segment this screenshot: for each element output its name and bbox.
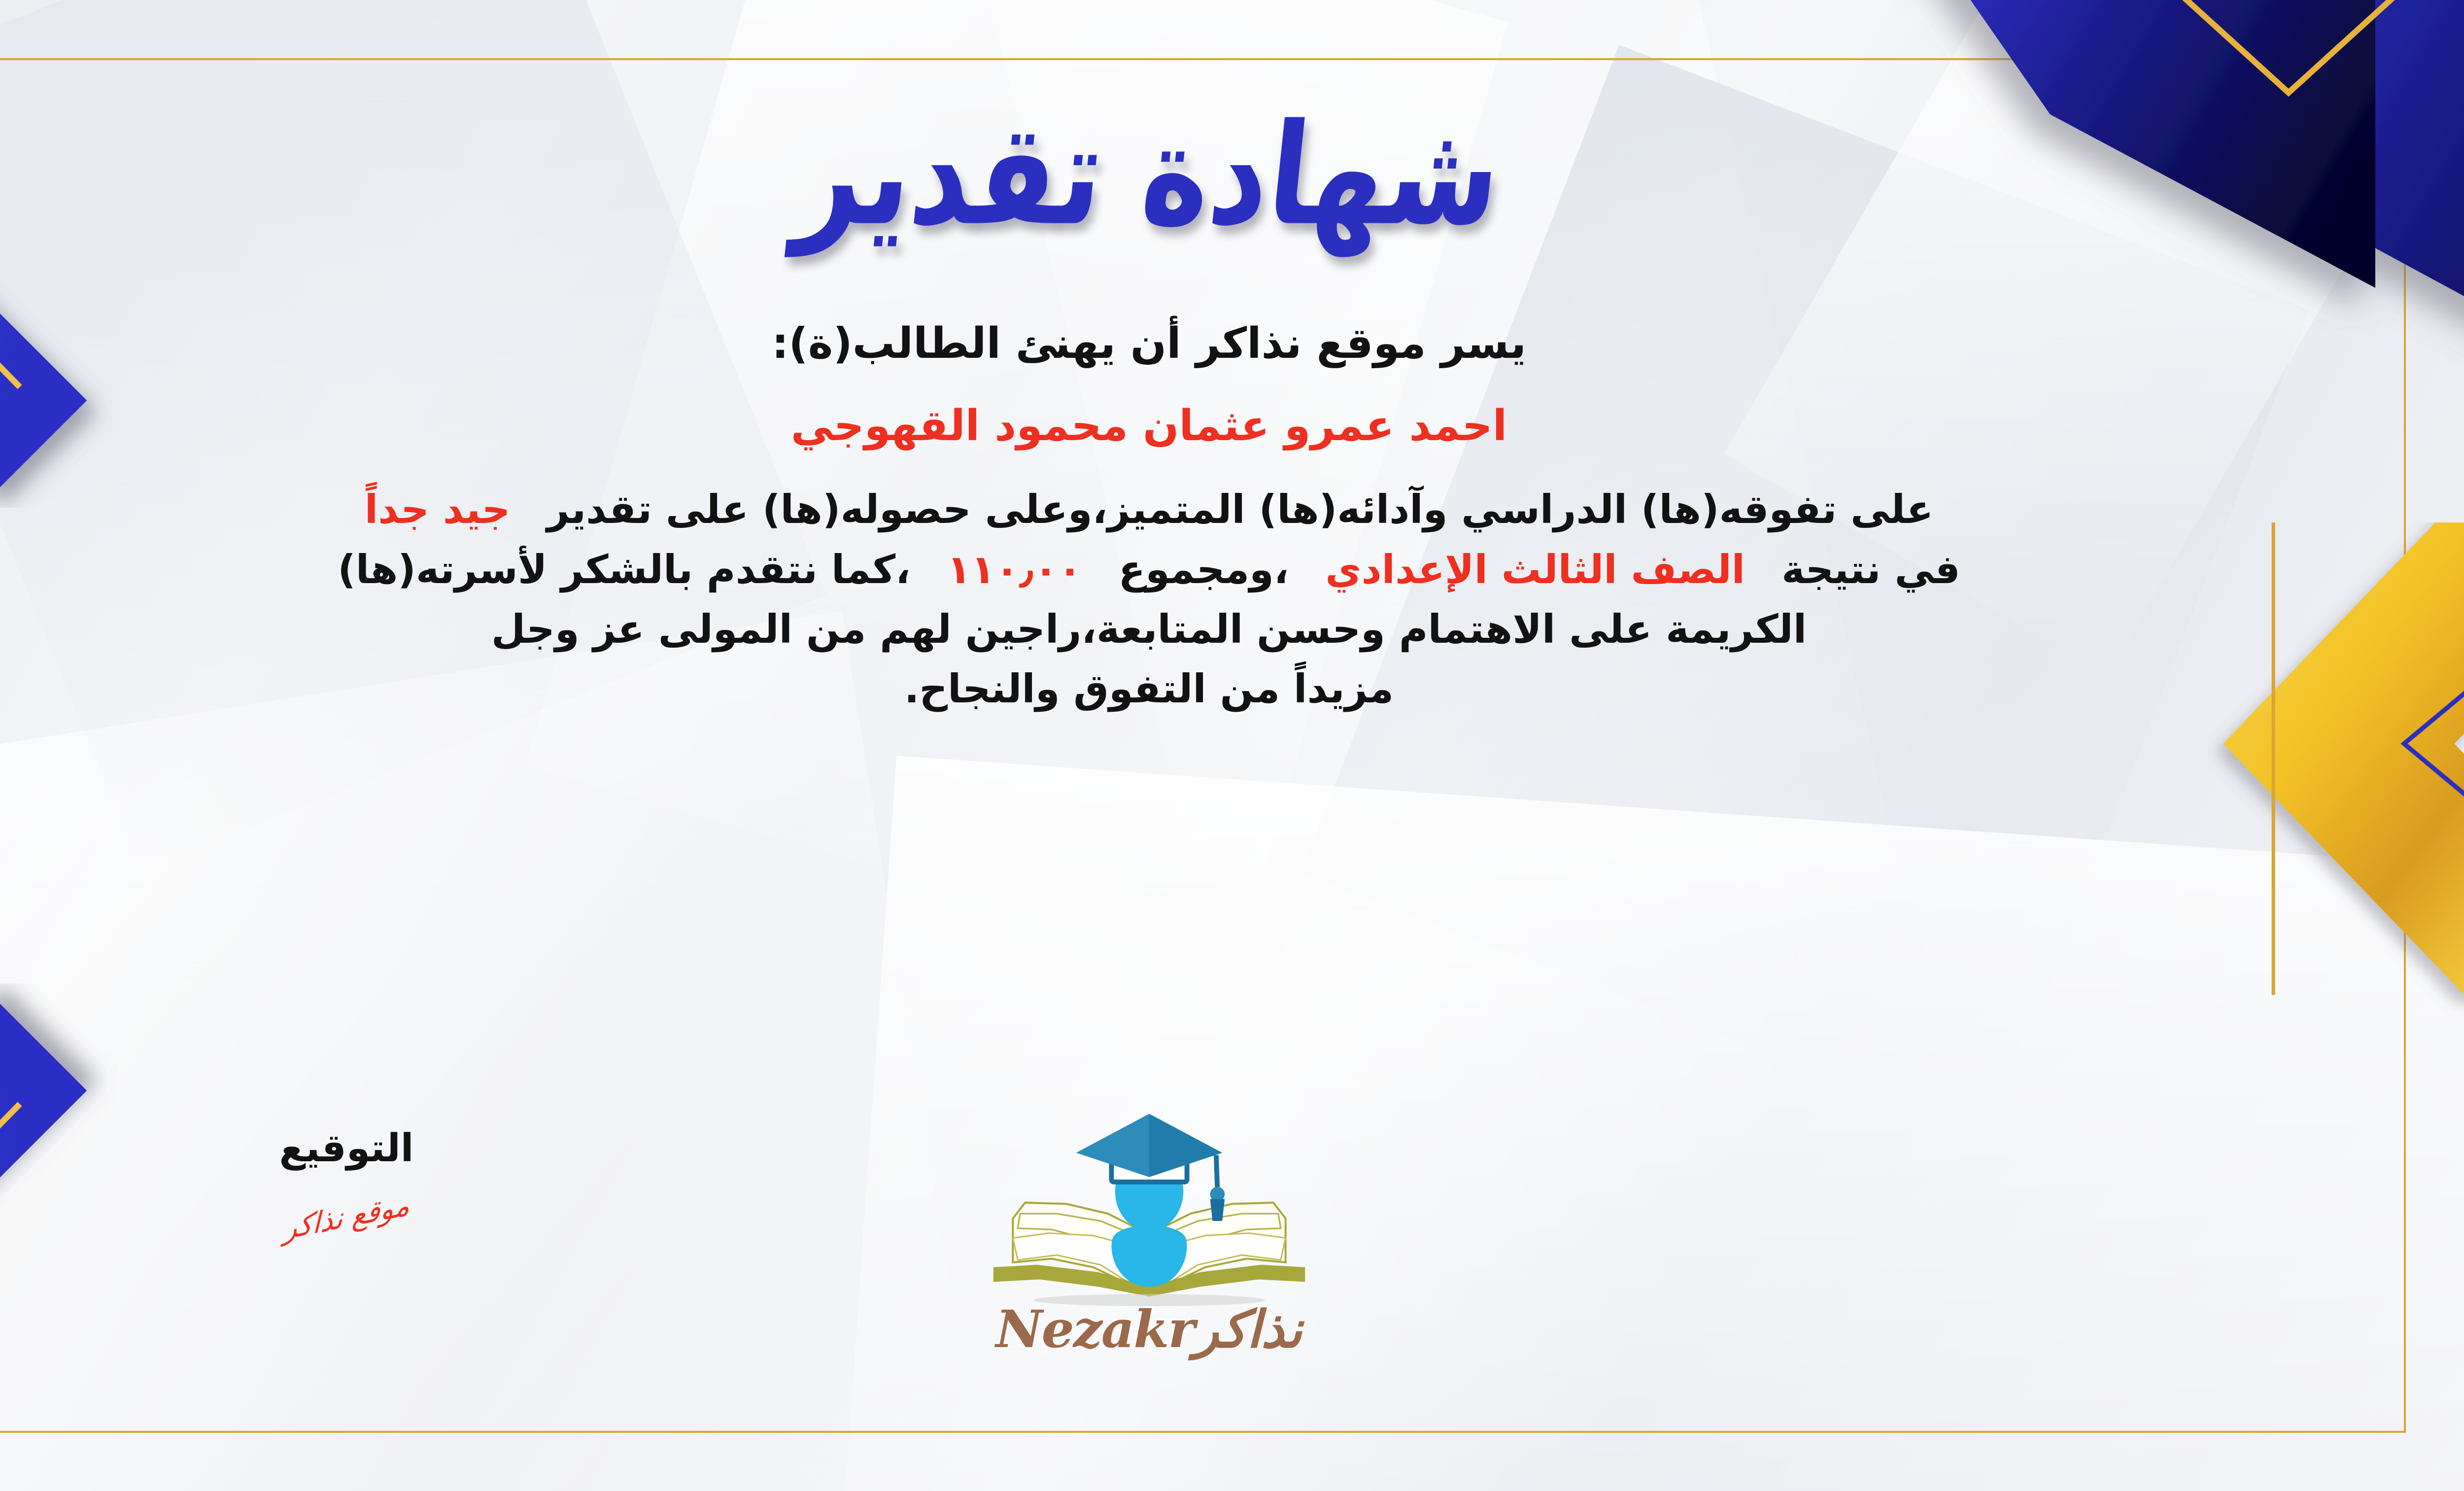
certificate-page: شهادة تقدير يسر موقع نذاكر أن يهنئ الطال… <box>0 0 2464 1491</box>
page-title: شهادة تقدير <box>789 94 1508 256</box>
signature-mark: موقع نذاكر <box>283 1187 410 1246</box>
grade-value: جيد جداً <box>365 486 511 532</box>
graduation-book-logo-icon <box>962 1102 1336 1309</box>
brand-logo: Nezakrنذاكر <box>962 1102 1336 1359</box>
certificate-title-wrap: شهادة تقدير <box>41 94 2257 256</box>
congratulation-lead-line: يسر موقع نذاكر أن يهنئ الطالب(ة): <box>41 315 2257 372</box>
total-score-value: ١١٠٫٠٠ <box>947 547 1082 592</box>
body-line-4: مزيداً من التفوق والنجاح. <box>41 662 2257 715</box>
student-name: احمد عمرو عثمان محمود القهوجي <box>41 398 2257 454</box>
body-line-3: الكريمة على الاهتمام وحسن المتابعة،راجين… <box>41 603 2257 656</box>
body-line-2-prefix: في نتيجة <box>1781 547 1960 592</box>
body-line-2-middle: ،ومجموع <box>1119 547 1289 592</box>
body-line-2-suffix: ،كما نتقدم بالشكر لأسرته(ها) <box>338 547 910 592</box>
brand-logo-text: Nezakrنذاكر <box>962 1299 1336 1359</box>
body-line-1-text: على تفوقه(ها) الدراسي وآدائه(ها) المتميز… <box>547 486 1933 532</box>
body-line-1: على تفوقه(ها) الدراسي وآدائه(ها) المتميز… <box>41 483 2257 536</box>
signature-label: التوقيع <box>208 1126 484 1171</box>
body-line-2: في نتيجةالصف الثالث الإعدادي،ومجموع١١٠٫٠… <box>41 543 2257 596</box>
class-level-value: الصف الثالث الإعدادي <box>1325 547 1745 592</box>
certificate-footer: التوقيع موقع نذاكر <box>0 1102 2464 1417</box>
signature-block: التوقيع موقع نذاكر <box>208 1126 484 1234</box>
